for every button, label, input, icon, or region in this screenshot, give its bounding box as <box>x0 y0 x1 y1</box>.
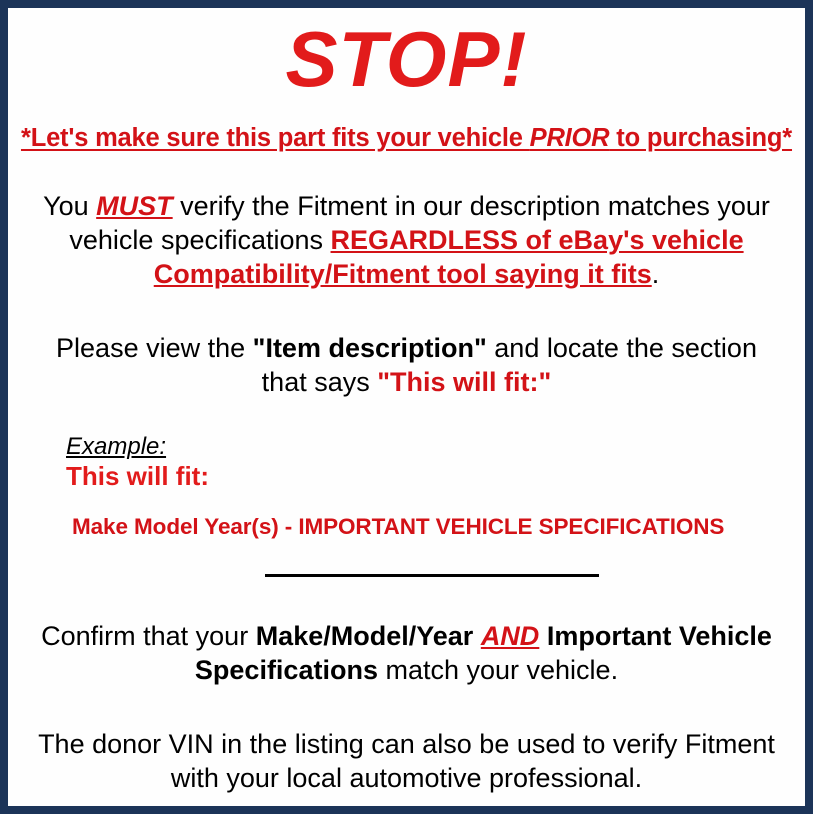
this-will-fit-emphasis: "This will fit:" <box>377 367 551 397</box>
item-description-emphasis: "Item description" <box>253 333 487 363</box>
page-title: STOP! <box>18 8 795 98</box>
paragraph-donor-vin: The donor VIN in the listing can also be… <box>18 687 795 795</box>
section-divider <box>265 574 599 577</box>
closing-thanks: Thank you for confirming Fitment! <box>18 795 795 814</box>
subtitle-banner: *Let's make sure this part fits your veh… <box>18 98 795 153</box>
confirm-seg-1: Confirm that your <box>41 621 256 651</box>
must-seg-1: You <box>43 191 96 221</box>
example-label-row: Example: <box>66 433 795 461</box>
subtitle-text-before: *Let's make sure this part fits your veh… <box>21 124 530 152</box>
subtitle-emphasis-prior: PRIOR <box>530 124 610 152</box>
must-seg-3: . <box>652 259 660 289</box>
example-block: Example: This will fit: Make Model Year(… <box>18 399 795 540</box>
must-emphasis: MUST <box>96 191 173 221</box>
confirm-seg-2 <box>473 621 481 651</box>
example-fit-heading: This will fit: <box>66 461 795 492</box>
paragraph-confirm: Confirm that your Make/Model/Year AND Im… <box>18 582 795 687</box>
fitment-notice-card: STOP! *Let's make sure this part fits yo… <box>0 0 813 814</box>
divider-wrap <box>18 540 795 582</box>
notice-content: STOP! *Let's make sure this part fits yo… <box>8 8 805 806</box>
confirm-seg-4: match your vehicle. <box>378 655 618 685</box>
example-spec-line: Make Model Year(s) - IMPORTANT VEHICLE S… <box>66 492 795 540</box>
make-model-year-emphasis: Make/Model/Year <box>256 621 474 651</box>
and-emphasis: AND <box>481 621 540 651</box>
subtitle-text-after: to purchasing* <box>609 124 792 152</box>
confirm-seg-3 <box>539 621 547 651</box>
please-seg-1: Please view the <box>56 333 253 363</box>
example-label: Example: <box>66 433 166 461</box>
paragraph-please-view: Please view the "Item description" and l… <box>18 291 795 399</box>
paragraph-must-verify: You MUST verify the Fitment in our descr… <box>18 153 795 291</box>
